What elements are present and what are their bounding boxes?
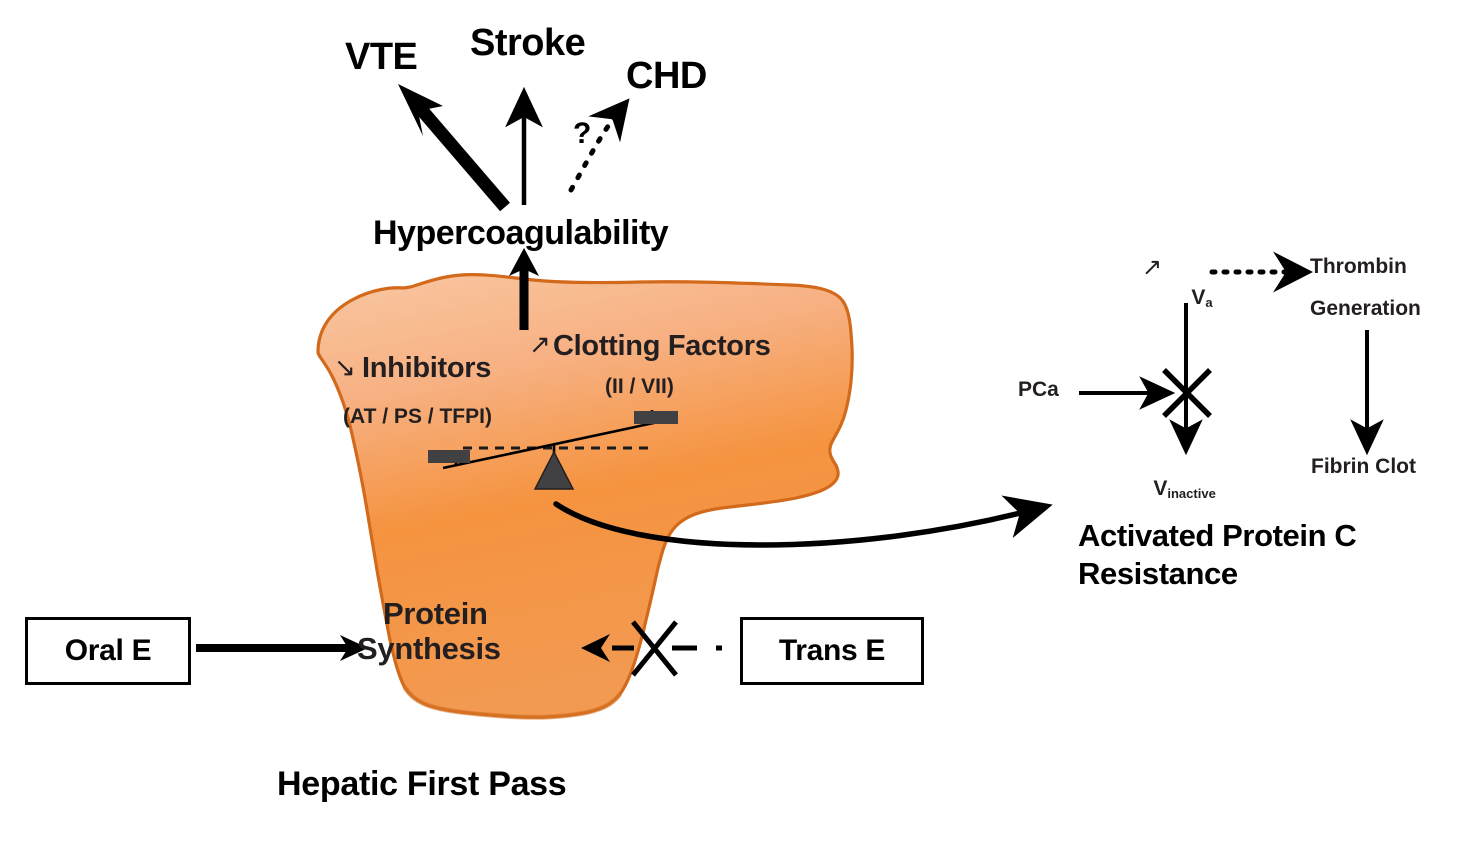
clotting-factors-detail: (II / VII) xyxy=(605,375,674,399)
transdermal-estrogen-label: Trans E xyxy=(779,634,885,668)
hypercoagulability-label: Hypercoagulability xyxy=(373,214,668,252)
oral-estrogen-box[interactable]: Oral E xyxy=(25,617,191,685)
apc-resistance-line2: Resistance xyxy=(1078,557,1238,592)
inhibitors-detail: (AT / PS / TFPI) xyxy=(343,405,492,429)
fibrin-clot-label: Fibrin Clot xyxy=(1311,455,1416,479)
scale-pan-clotting xyxy=(634,411,678,424)
inhibitors-label: Inhibitors xyxy=(362,352,491,384)
va-label: Va xyxy=(1168,262,1213,333)
outcome-label-stroke: Stroke xyxy=(470,22,585,65)
inhibitors-down-arrow-icon: ↘ xyxy=(334,353,356,382)
protein-synthesis-line2: Synthesis xyxy=(357,632,501,667)
oral-estrogen-label: Oral E xyxy=(65,634,152,668)
uncertainty-question-mark: ? xyxy=(573,117,591,151)
protein-synthesis-line1: Protein xyxy=(383,597,488,632)
va-letter: V xyxy=(1191,286,1205,309)
diagram-graphics xyxy=(0,0,1472,841)
va-subscript: a xyxy=(1205,294,1212,309)
thrombin-generation-line2: Generation xyxy=(1310,297,1421,321)
arrow-oral-to-liver xyxy=(196,635,368,661)
v-inactive-label: Vinactive xyxy=(1130,453,1216,524)
diagram-canvas: VTE Stroke CHD ? Hypercoagulability ↗ Cl… xyxy=(0,0,1472,841)
arrow-to-vte xyxy=(398,84,505,207)
scale-pan-inhibitors xyxy=(428,450,470,463)
v-inactive-letter: V xyxy=(1153,477,1167,500)
clotting-factors-up-arrow-icon: ↗ xyxy=(529,330,551,359)
thrombin-generation-line1: Thrombin xyxy=(1310,255,1407,279)
apc-resistance-line1: Activated Protein C xyxy=(1078,519,1356,554)
clotting-factors-label: Clotting Factors xyxy=(553,330,771,362)
outcome-label-chd: CHD xyxy=(626,55,707,98)
pca-label: PCa xyxy=(1018,378,1059,402)
va-up-arrow-icon: ↗ xyxy=(1142,255,1162,282)
transdermal-estrogen-box[interactable]: Trans E xyxy=(740,617,924,685)
outcome-label-vte: VTE xyxy=(345,36,417,79)
v-inactive-subscript: inactive xyxy=(1167,485,1215,500)
figure-caption: Hepatic First Pass xyxy=(277,765,566,803)
